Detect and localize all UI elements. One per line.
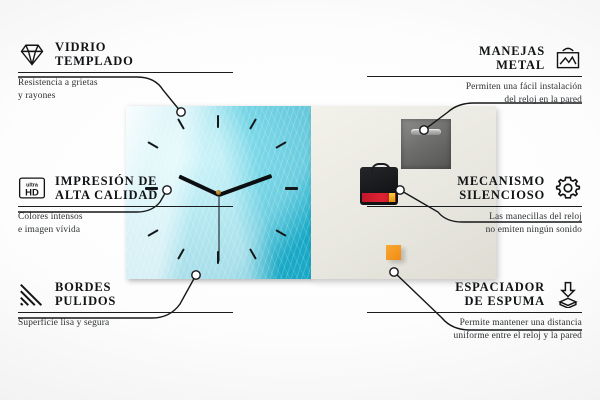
ultra-hd-icon: ultra HD bbox=[18, 174, 46, 202]
metal-hanger-plate bbox=[401, 119, 451, 169]
clock-tick bbox=[147, 141, 158, 149]
feature-title-2: SILENCIOSO bbox=[457, 188, 545, 202]
divider bbox=[18, 72, 233, 73]
divider bbox=[367, 312, 582, 313]
feature-title-2: ALTA CALIDAD bbox=[55, 188, 158, 202]
clock-tick bbox=[217, 115, 219, 128]
feature-desc: Permiten una fácil instalación bbox=[367, 81, 582, 93]
infographic-canvas: VIDRIO TEMPLADO Resistencia a grietas y … bbox=[0, 0, 600, 400]
feature-title: MANEJAS bbox=[479, 44, 545, 58]
clock-tick bbox=[285, 187, 298, 190]
clock-tick bbox=[249, 118, 257, 129]
feature-desc-2: uniforme entre el reloj y la pared bbox=[367, 330, 582, 342]
clock-tick bbox=[275, 141, 286, 149]
feature-desc-2: y rayones bbox=[18, 90, 233, 102]
feature-title-2: METAL bbox=[479, 58, 545, 72]
divider bbox=[18, 312, 233, 313]
feature-desc-2: del reloj en la pared bbox=[367, 94, 582, 106]
foam-spacer-pad bbox=[386, 245, 401, 260]
feature-title-2: TEMPLADO bbox=[55, 54, 134, 68]
divider bbox=[367, 206, 582, 207]
feature-espaciador-espuma: ESPACIADOR DE ESPUMA Permite mantener un… bbox=[367, 280, 582, 342]
feature-desc: Colores intensos bbox=[18, 211, 233, 223]
diamond-icon bbox=[18, 40, 46, 68]
mechanism-hook bbox=[371, 163, 391, 173]
feature-mecanismo-silencioso: MECANISMO SILENCIOSO Las manecillas del … bbox=[367, 174, 582, 236]
feature-desc: Resistencia a grietas bbox=[18, 77, 233, 89]
feature-desc: Las manecillas del reloj bbox=[367, 211, 582, 223]
clock-tick bbox=[249, 248, 257, 259]
divider bbox=[18, 206, 233, 207]
feature-bordes-pulidos: BORDES PULIDOS Superficie lisa y segura bbox=[18, 280, 233, 330]
feature-title-2: DE ESPUMA bbox=[455, 294, 545, 308]
clock-tick bbox=[177, 118, 185, 129]
feature-title: VIDRIO bbox=[55, 40, 134, 54]
feature-desc-2: no emiten ningún sonido bbox=[367, 224, 582, 236]
clock-tick bbox=[177, 248, 185, 259]
feature-title: MECANISMO bbox=[457, 174, 545, 188]
feature-title: BORDES bbox=[55, 280, 116, 294]
feature-desc: Superficie lisa y segura bbox=[18, 317, 233, 329]
feature-desc-2: e imagen vívida bbox=[18, 224, 233, 236]
wall-frame-icon bbox=[554, 44, 582, 72]
feature-title: ESPACIADOR bbox=[455, 280, 545, 294]
divider bbox=[367, 76, 582, 77]
foam-spacer-icon bbox=[554, 280, 582, 308]
feature-desc: Permite mantener una distancia bbox=[367, 317, 582, 329]
hanger-slot bbox=[411, 129, 441, 135]
feature-vidrio-templado: VIDRIO TEMPLADO Resistencia a grietas y … bbox=[18, 40, 233, 102]
feature-title: IMPRESIÓN DE bbox=[55, 174, 158, 188]
feature-manejas-metal: MANEJAS METAL Permiten una fácil instala… bbox=[367, 44, 582, 106]
clock-tick bbox=[275, 229, 286, 237]
gear-icon bbox=[554, 174, 582, 202]
feature-title-2: PULIDOS bbox=[55, 294, 116, 308]
polished-edges-icon bbox=[18, 280, 46, 308]
feature-impresion-alta-calidad: ultra HD IMPRESIÓN DE ALTA CALIDAD Color… bbox=[18, 174, 233, 236]
ultra-hd-icon-main-text: HD bbox=[25, 188, 39, 199]
